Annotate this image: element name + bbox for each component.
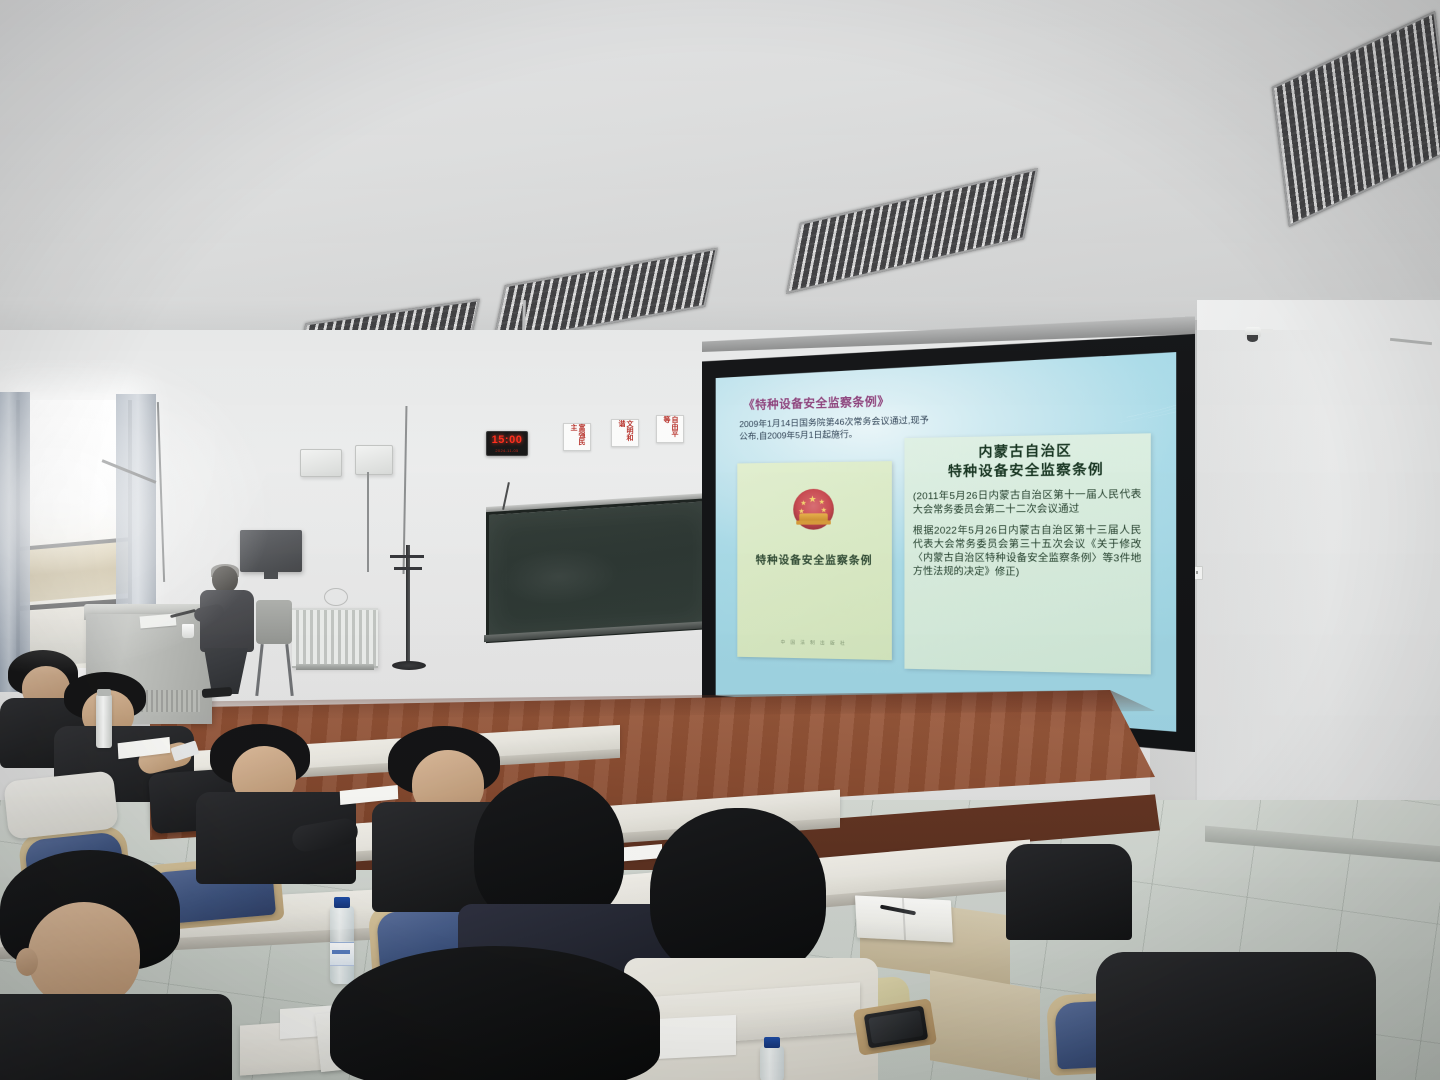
- poster-wenming-hexie: 文明和谐: [611, 419, 639, 447]
- coat-rack-arm: [394, 567, 422, 570]
- radiator-base: [296, 664, 374, 670]
- instructor-seated: [198, 566, 260, 696]
- white-bag: [3, 770, 118, 839]
- instructor-torso: [200, 590, 254, 652]
- thermos-lid: [97, 689, 111, 696]
- desk-side-panel: [930, 970, 1040, 1079]
- curtain-left: [0, 392, 30, 692]
- green-chalkboard: [486, 498, 714, 643]
- student-foreground-left: [0, 850, 230, 1080]
- clock-date: 2024-11-05: [495, 448, 518, 453]
- poster-text: 文明和谐: [617, 420, 633, 446]
- student-hair: [330, 946, 660, 1080]
- student-ear: [16, 948, 38, 976]
- law-body-line1: (2011年5月26日内蒙古自治区第十一届人民代表大会常务委员会第二十二次会议通…: [913, 487, 1142, 516]
- emblem-base-shape: [796, 520, 831, 524]
- window-view-trees: [18, 541, 130, 603]
- book-publisher: 中 国 法 制 出 版 社: [781, 639, 847, 646]
- instructor-head: [212, 566, 238, 593]
- poster-fuqiang-minzhu: 富强民主: [563, 423, 591, 451]
- student-foreground-center: [330, 946, 690, 1080]
- prc-national-emblem-icon: ★ ★ ★ ★ ★: [793, 489, 834, 530]
- camera-dome: [1247, 335, 1258, 342]
- bottle-cap: [764, 1037, 780, 1048]
- wall-equipment-box: [300, 449, 342, 477]
- star-icon: ★: [819, 499, 825, 506]
- book-title: 特种设备安全监察条例: [756, 552, 873, 568]
- column-radiator: [292, 608, 378, 668]
- student-right-upper: [1006, 844, 1126, 934]
- coat-rack-arm: [390, 555, 424, 558]
- law-text-panel: 内蒙古自治区 特种设备安全监察条例 (2011年5月26日内蒙古自治区第十一届人…: [904, 433, 1150, 674]
- law-heading-line2: 特种设备安全监察条例: [913, 459, 1142, 481]
- poster-text: 自由平等: [662, 416, 678, 442]
- student-torso: [1006, 844, 1132, 940]
- slide-intro-text: 2009年1月14日国务院第46次常务会议通过,现予公布,自2009年5月1日起…: [739, 415, 928, 443]
- star-icon: ★: [800, 500, 806, 507]
- cable: [367, 472, 369, 572]
- cup: [182, 624, 194, 638]
- law-body-line2: 根据2022年5月26日内蒙古自治区第十三届人民代表大会常务委员会第三十五次会议…: [913, 522, 1142, 578]
- camera-mount-arm: [1259, 329, 1273, 333]
- book-cover-image: ★ ★ ★ ★ ★ 特种设备安全监察条例 中 国 法 制 出 版 社: [737, 461, 892, 660]
- lecture-hall-photo: 15:00 2024-11-05 富强民主 文明和谐 自由平等: [0, 0, 1440, 1080]
- dome-security-camera-icon: [1245, 327, 1267, 341]
- wall-equipment-box: [355, 445, 393, 475]
- coat-rack-base: [392, 661, 426, 670]
- student-torso: [1096, 952, 1376, 1080]
- student-right: [1096, 952, 1366, 1080]
- poster-ziyou-pingdeng: 自由平等: [656, 415, 684, 443]
- student-head: [28, 902, 140, 1008]
- monitor-stand: [264, 572, 278, 579]
- poster-text: 富强民主: [569, 424, 585, 450]
- led-wall-clock: 15:00 2024-11-05: [486, 431, 528, 456]
- chair-back: [256, 600, 292, 644]
- student-torso: [0, 994, 232, 1080]
- star-icon: ★: [808, 496, 816, 503]
- coat-rack-pole: [406, 545, 410, 665]
- coat-rack: [390, 545, 426, 673]
- thermos-flask: [96, 694, 112, 748]
- chair-leg: [285, 644, 293, 696]
- wall-clock-ring: [324, 588, 348, 606]
- slide-surface: 《特种设备安全监察条例》 2009年1月14日国务院第46次常务会议通过,现予公…: [716, 352, 1177, 732]
- clock-time: 15:00: [492, 435, 523, 446]
- water-bottle: [760, 1046, 784, 1080]
- bottle-cap: [334, 897, 350, 908]
